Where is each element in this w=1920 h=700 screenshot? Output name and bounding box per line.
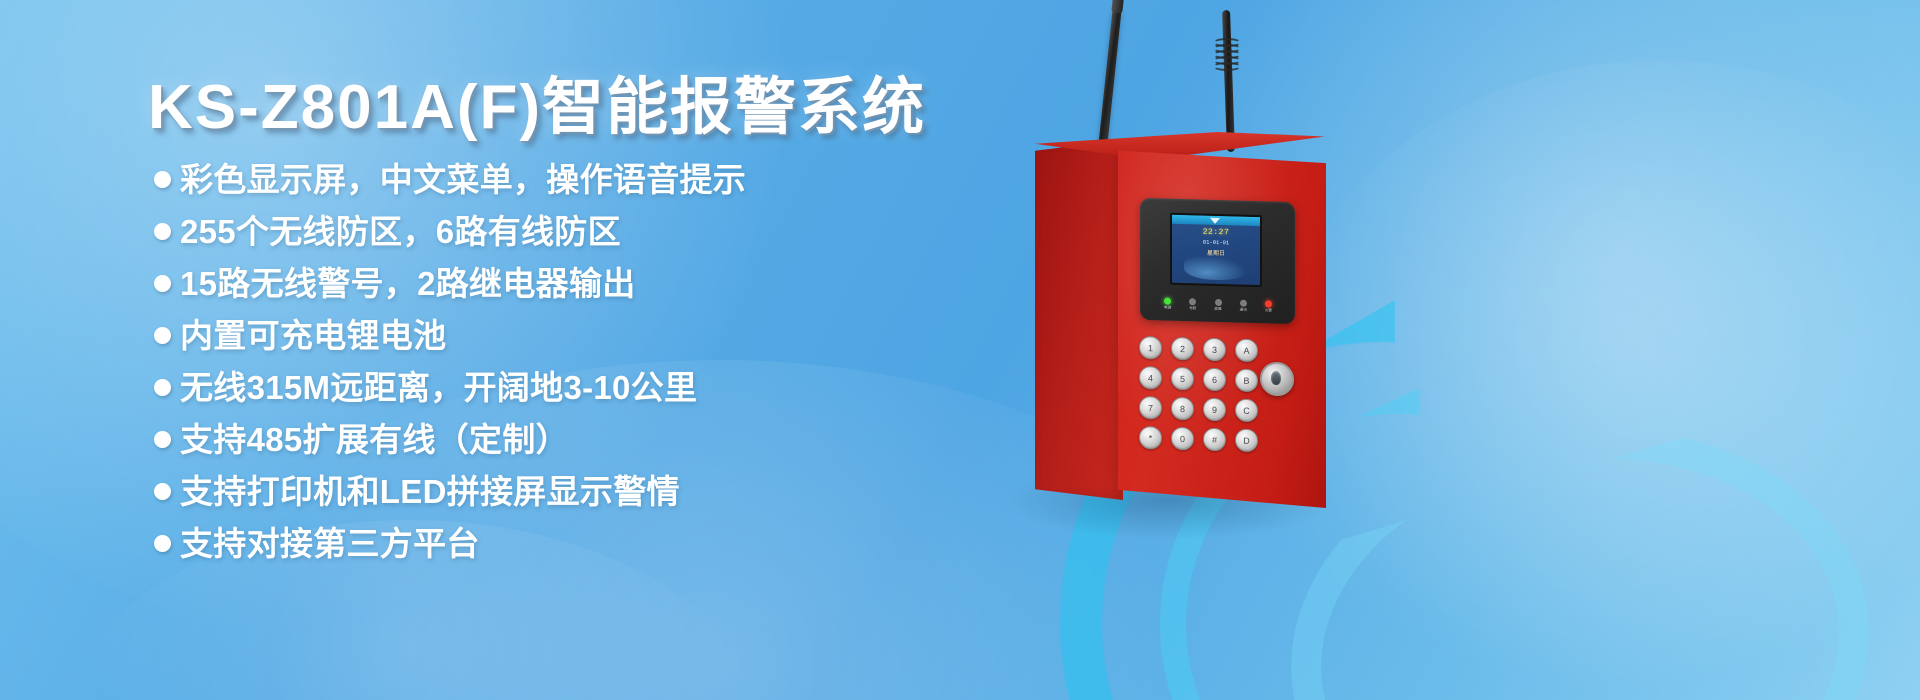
bullet-icon xyxy=(154,431,171,448)
led-indicator: 故障 xyxy=(1214,299,1221,312)
key-3[interactable]: 3 xyxy=(1203,338,1226,362)
bullet-icon xyxy=(154,171,171,188)
bullet-icon xyxy=(154,535,171,552)
led-indicator: 电源 xyxy=(1164,298,1171,311)
feature-label: 彩色显示屏，中文菜单，操作语音提示 xyxy=(180,163,746,196)
bullet-icon xyxy=(154,379,171,396)
enclosure-side xyxy=(1035,140,1123,500)
key-b[interactable]: B xyxy=(1235,369,1258,393)
key-0[interactable]: 0 xyxy=(1171,427,1194,451)
led-indicator-row: 电源 布防 故障 通讯 火警 xyxy=(1164,298,1272,314)
alarm-panel-device: 22:27 01-01-01 星期日 电源 布防 故障 xyxy=(955,0,1475,700)
page-title: KS-Z801A(F)智能报警系统 xyxy=(148,56,926,146)
led-label: 电源 xyxy=(1164,307,1171,311)
lock-icon[interactable] xyxy=(1260,362,1294,397)
feature-label: 支持打印机和LED拼接屏显示警情 xyxy=(180,475,680,508)
lcd-time: 22:27 xyxy=(1172,227,1260,238)
led-indicator: 火警 xyxy=(1265,301,1272,314)
key-c[interactable]: C xyxy=(1235,399,1258,423)
feature-label: 支持对接第三方平台 xyxy=(180,527,480,560)
antenna-icon xyxy=(1222,10,1235,152)
antenna-coil-icon xyxy=(1213,38,1239,74)
lcd-screen: 22:27 01-01-01 星期日 xyxy=(1170,213,1262,288)
feature-label: 无线315M远距离，开阔地3-10公里 xyxy=(180,371,697,404)
list-item: 支持对接第三方平台 xyxy=(154,519,984,567)
list-item: 内置可充电锂电池 xyxy=(154,311,984,359)
feature-label: 15路无线警号，2路继电器输出 xyxy=(180,267,636,300)
feature-list: 彩色显示屏，中文菜单，操作语音提示 255个无线防区，6路有线防区 15路无线警… xyxy=(154,155,984,571)
led-power-icon xyxy=(1164,298,1171,305)
list-item: 15路无线警号，2路继电器输出 xyxy=(154,259,984,307)
list-item: 支持打印机和LED拼接屏显示警情 xyxy=(154,467,984,515)
feature-label: 支持485扩展有线（定制） xyxy=(180,423,569,456)
keypad-row: 1 2 3 A xyxy=(1139,336,1291,363)
led-label: 故障 xyxy=(1214,308,1221,312)
led-indicator: 通讯 xyxy=(1240,300,1247,313)
signal-icon xyxy=(1210,217,1220,223)
led-indicator: 布防 xyxy=(1189,299,1196,312)
key-7[interactable]: 7 xyxy=(1139,396,1162,420)
led-fault-icon xyxy=(1215,299,1222,306)
antenna-icon xyxy=(1097,8,1122,158)
led-label: 火警 xyxy=(1265,310,1272,314)
bullet-icon xyxy=(154,223,171,240)
led-label: 布防 xyxy=(1189,308,1196,312)
key-4[interactable]: 4 xyxy=(1139,366,1162,390)
key-2[interactable]: 2 xyxy=(1171,337,1194,361)
list-item: 支持485扩展有线（定制） xyxy=(154,415,984,463)
key-5[interactable]: 5 xyxy=(1171,367,1194,391)
lcd-wallpaper xyxy=(1184,255,1248,281)
bullet-icon xyxy=(154,327,171,344)
led-label: 通讯 xyxy=(1240,309,1247,313)
feature-label: 255个无线防区，6路有线防区 xyxy=(180,215,621,248)
key-star[interactable]: * xyxy=(1139,426,1162,450)
product-banner: KS-Z801A(F)智能报警系统 彩色显示屏，中文菜单，操作语音提示 255个… xyxy=(0,0,1920,700)
key-8[interactable]: 8 xyxy=(1171,397,1194,421)
bullet-icon xyxy=(154,483,171,500)
key-1[interactable]: 1 xyxy=(1139,336,1162,360)
keypad-row: 7 8 9 C xyxy=(1139,396,1291,423)
keypad-row: * 0 # D xyxy=(1139,426,1291,453)
list-item: 彩色显示屏，中文菜单，操作语音提示 xyxy=(154,155,984,203)
led-armed-icon xyxy=(1189,299,1196,306)
led-alarm-icon xyxy=(1265,301,1272,308)
list-item: 无线315M远距离，开阔地3-10公里 xyxy=(154,363,984,411)
text-panel: KS-Z801A(F)智能报警系统 彩色显示屏，中文菜单，操作语音提示 255个… xyxy=(0,0,1000,700)
key-9[interactable]: 9 xyxy=(1203,398,1226,422)
list-item: 255个无线防区，6路有线防区 xyxy=(154,207,984,255)
feature-label: 内置可充电锂电池 xyxy=(180,319,446,352)
led-comm-icon xyxy=(1240,300,1247,307)
key-6[interactable]: 6 xyxy=(1203,368,1226,392)
lcd-date: 01-01-01 xyxy=(1172,238,1260,247)
key-a[interactable]: A xyxy=(1235,339,1258,363)
key-hash[interactable]: # xyxy=(1203,428,1226,452)
key-d[interactable]: D xyxy=(1235,429,1258,453)
bullet-icon xyxy=(154,275,171,292)
keypad[interactable]: 1 2 3 A 4 5 6 B 7 8 9 C * 0 # D xyxy=(1139,336,1291,460)
faceplate: 22:27 01-01-01 星期日 电源 布防 故障 xyxy=(1140,198,1295,324)
